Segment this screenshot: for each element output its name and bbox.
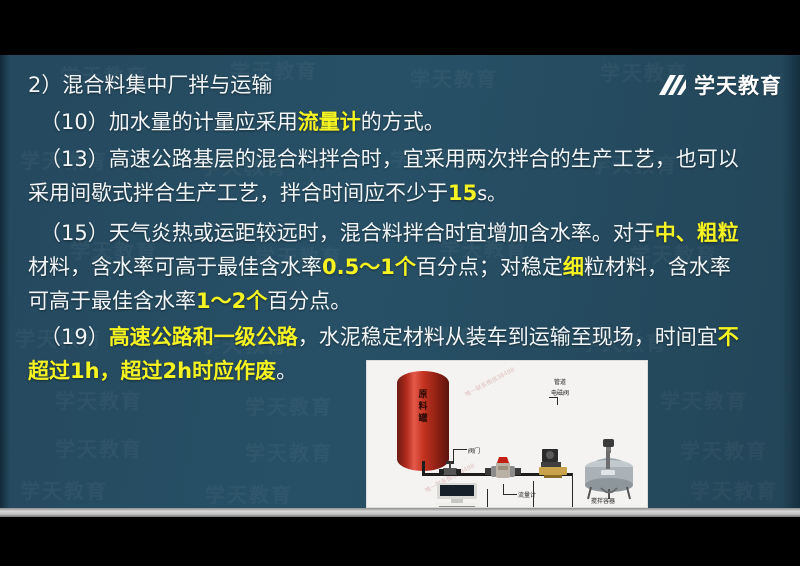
flow-meter-icon xyxy=(485,456,521,484)
watermark: 学天教育 xyxy=(20,475,108,504)
brand-logo: 学天教育 xyxy=(657,70,782,100)
run-text: （13）高速公路基层的混合料拌合时，宜采用两次拌合的生产工艺，也可以 xyxy=(40,147,739,171)
run-text: 材料，含水率可高于最佳含水率 xyxy=(28,255,322,279)
paragraph-item-13: （13）高速公路基层的混合料拌合时，宜采用两次拌合的生产工艺，也可以 xyxy=(40,149,739,170)
run-highlight: 15 xyxy=(448,181,477,205)
screen: 学天教育 学天教育 学天教育 学天教育 学天教育 学天教育 学天教育 学天教育 … xyxy=(0,0,800,566)
watermark: 学天教育 xyxy=(410,63,498,92)
mixing-vessel-icon xyxy=(579,439,639,501)
brand-name: 学天教育 xyxy=(694,70,782,100)
leader-line xyxy=(533,481,534,508)
watermark: 学天教育 xyxy=(245,391,333,420)
run-text: ，水泥稳定材料从装车到运输至现场，时间宜 xyxy=(298,325,718,349)
slanted-stripes-icon xyxy=(657,74,687,96)
leader-line xyxy=(549,397,558,398)
leader-line xyxy=(572,473,573,508)
solenoid-label-line1: 管道 xyxy=(554,377,566,386)
liquid-flow-controller-icon xyxy=(435,483,483,508)
run-text: （19） xyxy=(40,325,109,349)
watermark: 学天教育 xyxy=(680,435,768,464)
run-highlight: 高速公路和一级公路 xyxy=(109,325,298,349)
run-highlight: 流量计 xyxy=(298,110,361,134)
watermark: 学天教育 xyxy=(55,433,143,462)
leader-line xyxy=(557,397,558,405)
solenoid-label-line2: 电磁阀 xyxy=(551,388,569,397)
leader-line xyxy=(487,489,488,508)
bottom-scroll-strip[interactable] xyxy=(0,508,800,517)
paragraph-item-15-cont2: 可高于最佳含水率1～2个百分点。 xyxy=(28,291,351,312)
run-highlight: 0.5～1个 xyxy=(322,255,416,279)
valve-label: 阀门 xyxy=(468,446,480,455)
watermark: 学天教育 xyxy=(690,475,778,504)
run-highlight: 细 xyxy=(563,255,584,279)
watermark: 学天教育 xyxy=(660,385,748,414)
paragraph-item-10: （10）加水量的计量应采用流量计的方式。 xyxy=(40,112,445,133)
heading-text: 2）混合料集中厂拌与运输 xyxy=(28,73,272,97)
run-highlight: 1～2个 xyxy=(196,289,267,313)
paragraph-item-13-cont: 采用间歇式拌合生产工艺，拌合时间应不少于15s。 xyxy=(28,183,506,204)
paragraph-item-15-cont1: 材料，含水率可高于最佳含水率0.5～1个百分点；对稳定细粒材料，含水率 xyxy=(28,257,731,278)
tank-label: 原料罐 xyxy=(409,389,437,425)
run-text: （10）加水量的计量应采用 xyxy=(40,110,298,134)
run-text: 百分点；对稳定 xyxy=(416,255,563,279)
run-highlight: 超过1h，超过2h时应作废 xyxy=(28,359,276,383)
run-highlight: 中、粗粒 xyxy=(655,221,739,245)
run-text: 可高于最佳含水率 xyxy=(28,289,196,313)
bottom-letterbox-bar xyxy=(0,517,800,566)
run-text: 粒材料，含水率 xyxy=(584,255,731,279)
paragraph-item-19-cont: 超过1h，超过2h时应作废。 xyxy=(28,361,297,382)
leader-line xyxy=(453,449,467,450)
leader-line xyxy=(503,484,504,494)
paragraph-item-15: （15）天气炎热或运距较远时，混合料拌合时宜增加含水率。对于中、粗粒 xyxy=(40,223,739,244)
process-diagram-image: 唯一联系微信38498 唯一联系微信38498 原料罐 阀门 xyxy=(366,360,648,508)
watermark: 学天教育 xyxy=(245,437,333,466)
run-text: 百分点。 xyxy=(267,289,351,313)
slide-heading: 2）混合料集中厂拌与运输 xyxy=(28,75,272,96)
slide-left-shadow xyxy=(0,55,10,508)
pipeline-solenoid-valve-icon xyxy=(539,449,571,479)
run-text: 采用间歇式拌合生产工艺，拌合时间应不少于 xyxy=(28,181,448,205)
run-text: 。 xyxy=(276,359,297,383)
run-text: （15）天气炎热或运距较远时，混合料拌合时宜增加含水率。对于 xyxy=(40,221,655,245)
watermark: 学天教育 xyxy=(205,479,293,508)
valve-icon xyxy=(439,461,461,481)
leader-line xyxy=(503,494,517,495)
watermark: 学天教育 xyxy=(55,385,143,414)
run-text: s。 xyxy=(477,183,506,205)
paragraph-item-19: （19）高速公路和一级公路，水泥稳定材料从装车到运输至现场，时间宜不 xyxy=(40,327,739,348)
figure-watermark: 唯一联系微信38498 xyxy=(463,365,516,399)
mixer-label: 搅拌容器 xyxy=(591,496,615,505)
top-letterbox-bar xyxy=(0,0,800,55)
run-text: 的方式。 xyxy=(361,110,445,134)
leader-line xyxy=(453,449,454,463)
run-highlight: 不 xyxy=(718,325,739,349)
